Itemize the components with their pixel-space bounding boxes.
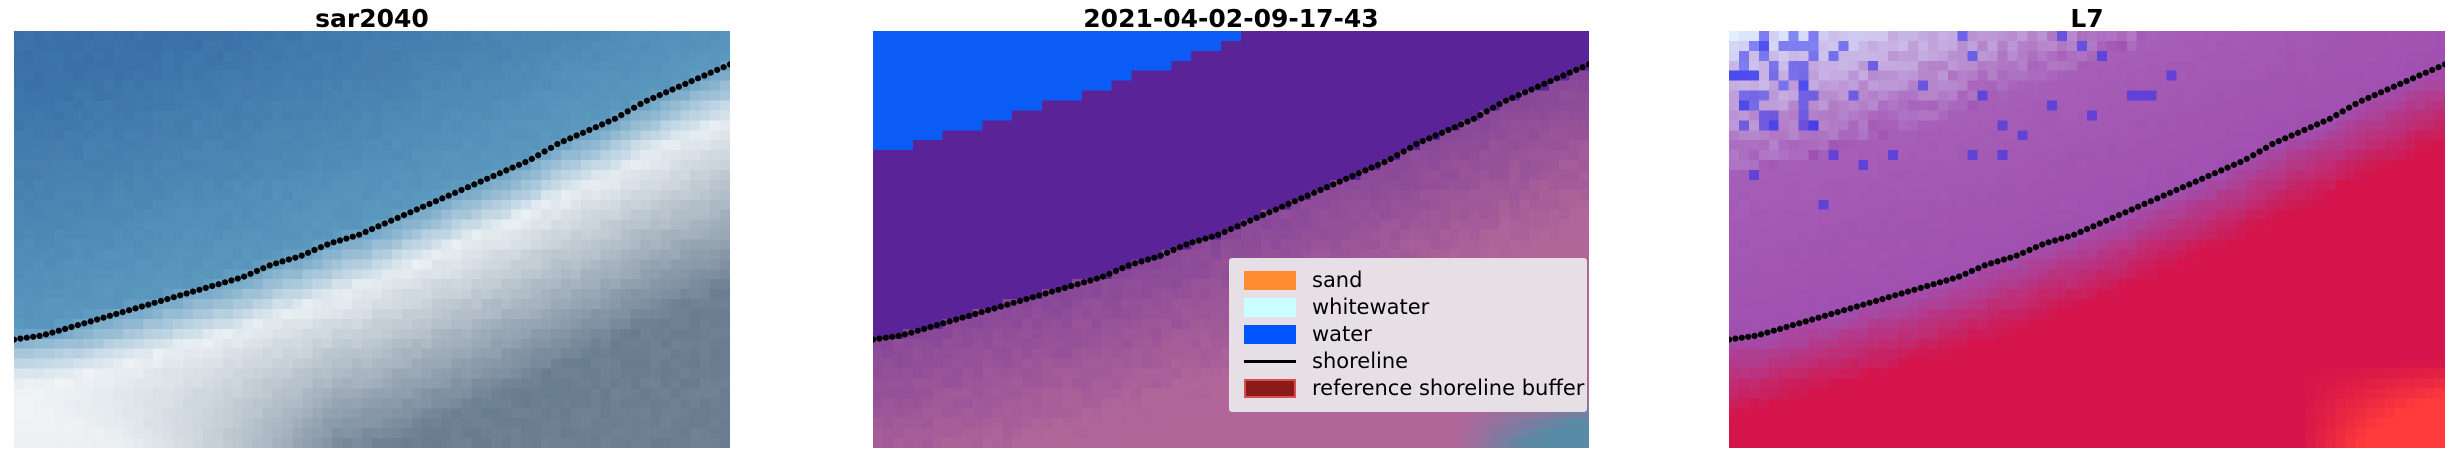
panel-l7-raster <box>1729 31 2445 448</box>
legend-item-water[interactable]: water <box>1240 321 1576 348</box>
panel-l7[interactable] <box>1729 31 2445 448</box>
legend-label-whitewater: whitewater <box>1312 294 1429 321</box>
legend-item-sand[interactable]: sand <box>1240 267 1576 294</box>
legend-item-shoreline[interactable]: shoreline <box>1240 348 1576 375</box>
legend-item-whitewater[interactable]: whitewater <box>1240 294 1576 321</box>
legend-label-water: water <box>1312 321 1372 348</box>
legend[interactable]: sand whitewater water shoreline referenc… <box>1229 258 1587 412</box>
legend-label-sand: sand <box>1312 267 1362 294</box>
legend-label-reference-buffer: reference shoreline buffer <box>1312 375 1584 402</box>
legend-swatch-sand-icon <box>1240 267 1300 294</box>
panel-sar2040-raster <box>14 31 730 448</box>
panel-title-sar2040: sar2040 <box>14 4 730 34</box>
legend-swatch-reference-buffer-icon <box>1240 375 1300 402</box>
legend-swatch-water-icon <box>1240 321 1300 348</box>
panel-sar2040[interactable] <box>14 31 730 448</box>
panel-title-timestamp: 2021-04-02-09-17-43 <box>873 4 1589 34</box>
legend-line-shoreline-icon <box>1240 348 1300 375</box>
panel-title-l7: L7 <box>1729 4 2445 34</box>
legend-label-shoreline: shoreline <box>1312 348 1408 375</box>
figure-canvas: sar2040 2021-04-02-09-17-43 L7 sand whit… <box>0 0 2460 464</box>
legend-swatch-whitewater-icon <box>1240 294 1300 321</box>
legend-item-reference-buffer[interactable]: reference shoreline buffer <box>1240 375 1576 402</box>
